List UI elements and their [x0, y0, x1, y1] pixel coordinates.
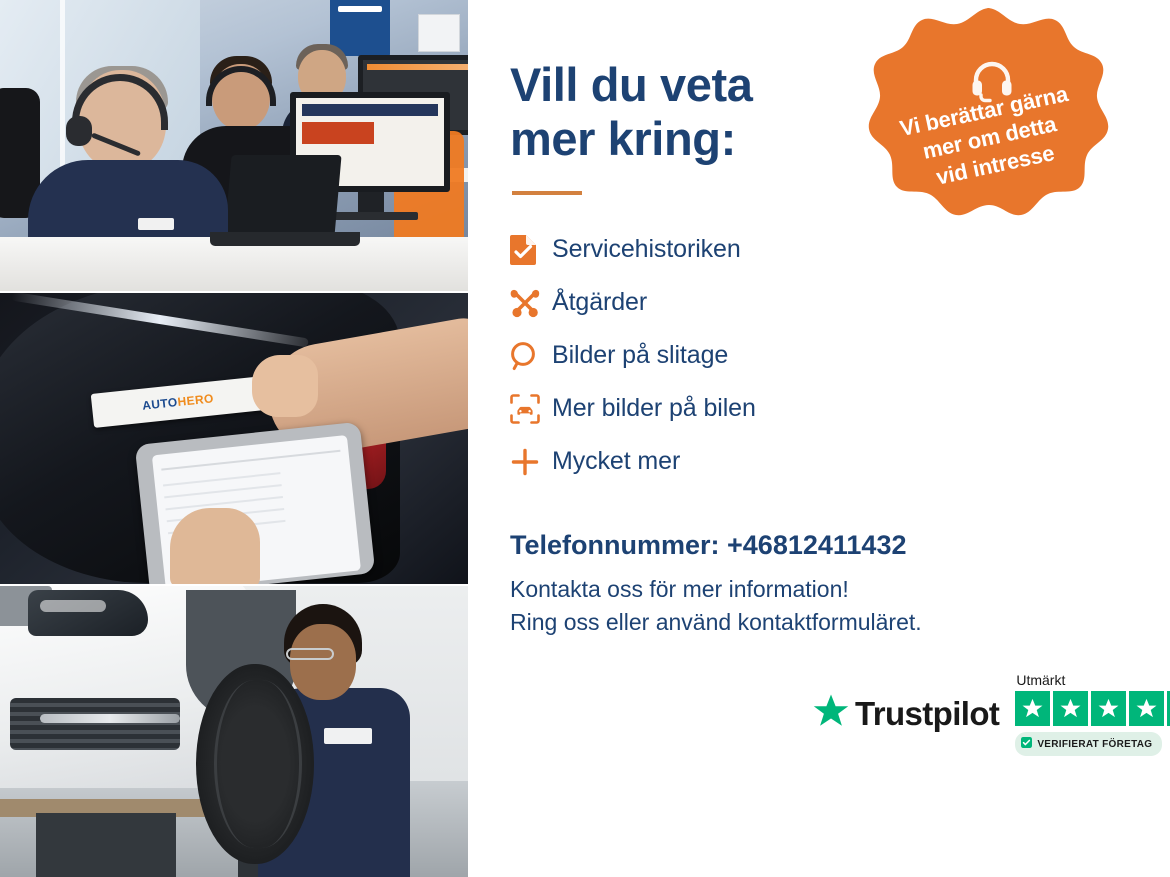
feature-label: Åtgärder — [552, 288, 647, 317]
feature-label: Servicehistoriken — [552, 235, 741, 264]
ruler-logo: AUTOHERO — [142, 391, 215, 412]
car-scan-icon — [510, 394, 552, 424]
trustpilot-star-icon — [813, 693, 849, 734]
agent-a-name-badge — [138, 218, 174, 230]
inspector-hand — [252, 355, 318, 417]
check-badge-icon — [1021, 735, 1032, 753]
bumper-vent — [10, 698, 180, 750]
rating-label: Utmärkt — [1016, 672, 1170, 688]
star-rating — [1015, 691, 1170, 726]
monitor-stand — [358, 192, 384, 214]
laptop-base — [210, 232, 360, 246]
content-panel: Vill du veta mer kring: Servicehistorike… — [468, 0, 1170, 877]
star-1 — [1015, 691, 1050, 726]
feature-label: Mycket mer — [552, 447, 680, 476]
feature-list: Servicehistoriken Åtgärder — [510, 223, 1170, 488]
tools-icon — [510, 288, 552, 318]
magnifier-icon — [510, 341, 552, 371]
technician-glasses — [286, 648, 334, 660]
title-divider — [512, 191, 582, 195]
status-badge: VERIFIERAT FÖRETAG — [1015, 732, 1162, 756]
plus-icon — [510, 447, 552, 477]
feature-label: Mer bilder på bilen — [552, 394, 756, 423]
document-check-icon — [510, 235, 552, 265]
tool-cabinet-left — [36, 813, 176, 877]
contact-text: Kontakta oss för mer information! Ring o… — [510, 573, 1170, 638]
promo-page: AUTOHERO — [0, 0, 1170, 877]
photo-call-center — [0, 0, 468, 291]
verified-text: VERIFIERAT FÖRETAG — [1037, 739, 1152, 750]
car-tire — [196, 664, 314, 864]
trustpilot-logo[interactable]: Trustpilot — [813, 693, 999, 734]
photo-workshop — [0, 586, 468, 877]
trustpilot-widget[interactable]: Trustpilot Utmärkt — [813, 672, 1170, 756]
wall-paper — [418, 14, 460, 52]
technician-head — [290, 624, 356, 700]
star-2 — [1053, 691, 1088, 726]
feature-item-mer-bilder-pa-bilen: Mer bilder på bilen — [510, 382, 1170, 435]
trustpilot-rating: Utmärkt — [1015, 672, 1170, 756]
feature-label: Bilder på slitage — [552, 341, 728, 370]
star-3 — [1091, 691, 1126, 726]
agent-a-earcup — [66, 116, 92, 146]
car-headlight — [28, 590, 148, 636]
chrome-trim — [40, 714, 180, 723]
phone-number: Telefonnummer: +46812411432 — [510, 530, 1170, 561]
technician-logo-patch — [324, 728, 372, 744]
page-title: Vill du veta mer kring: — [510, 58, 840, 165]
star-4 — [1129, 691, 1164, 726]
laptop-screen — [224, 155, 341, 237]
feature-item-atgarder: Åtgärder — [510, 276, 1170, 329]
photo-column: AUTOHERO — [0, 0, 468, 877]
feature-item-mycket-mer: Mycket mer — [510, 435, 1170, 488]
callout-badge: Vi berättar gärna mer om detta vid intre… — [864, 5, 1110, 255]
feature-item-bilder-pa-slitage: Bilder på slitage — [510, 329, 1170, 382]
trustpilot-wordmark: Trustpilot — [855, 695, 999, 733]
photo-inspection: AUTOHERO — [0, 293, 468, 584]
inspector-hand-lower — [170, 508, 260, 584]
